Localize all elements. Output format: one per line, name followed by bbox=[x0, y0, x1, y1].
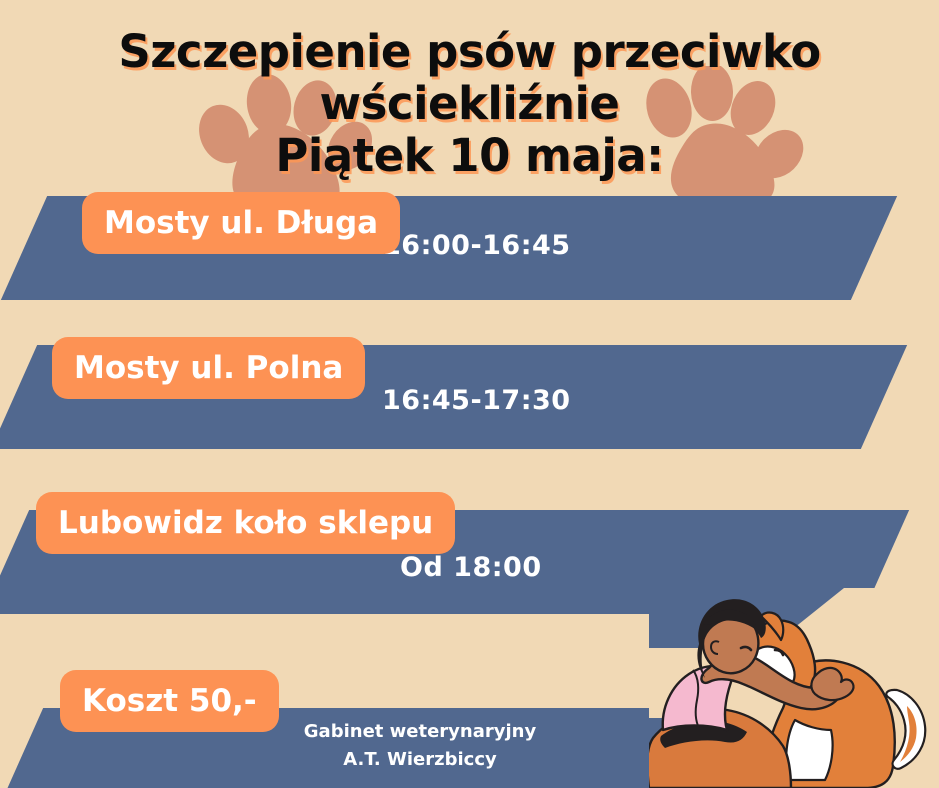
clinic-name-line-2: A.T. Wierzbiccy bbox=[250, 746, 590, 774]
page-title: Szczepienie psów przeciwko wściekliźnie … bbox=[0, 26, 939, 182]
title-line-1: Szczepienie psów przeciwko bbox=[0, 26, 939, 78]
poster-canvas: Szczepienie psów przeciwko wściekliźnie … bbox=[0, 0, 939, 788]
row-location-label: Mosty ul. Polna bbox=[52, 337, 365, 399]
price-label: Koszt 50,- bbox=[60, 670, 279, 732]
schedule-row: 16:45-17:30 Mosty ul. Polna bbox=[0, 345, 939, 455]
woman-hugging-dog-illustration bbox=[649, 588, 939, 788]
row-time: Od 18:00 bbox=[400, 552, 542, 583]
schedule-row: 16:00-16:45 Mosty ul. Długa bbox=[0, 196, 939, 306]
row-time: 16:00-16:45 bbox=[382, 230, 571, 261]
row-location-label: Lubowidz koło sklepu bbox=[36, 492, 455, 554]
title-line-3: Piątek 10 maja: bbox=[0, 130, 939, 182]
row-location-label: Mosty ul. Długa bbox=[82, 192, 400, 254]
title-line-2: wściekliźnie bbox=[0, 78, 939, 130]
clinic-name-line-1: Gabinet weterynaryjny bbox=[250, 718, 590, 746]
row-time: 16:45-17:30 bbox=[382, 385, 571, 416]
clinic-credit: Gabinet weterynaryjny A.T. Wierzbiccy bbox=[250, 718, 590, 774]
